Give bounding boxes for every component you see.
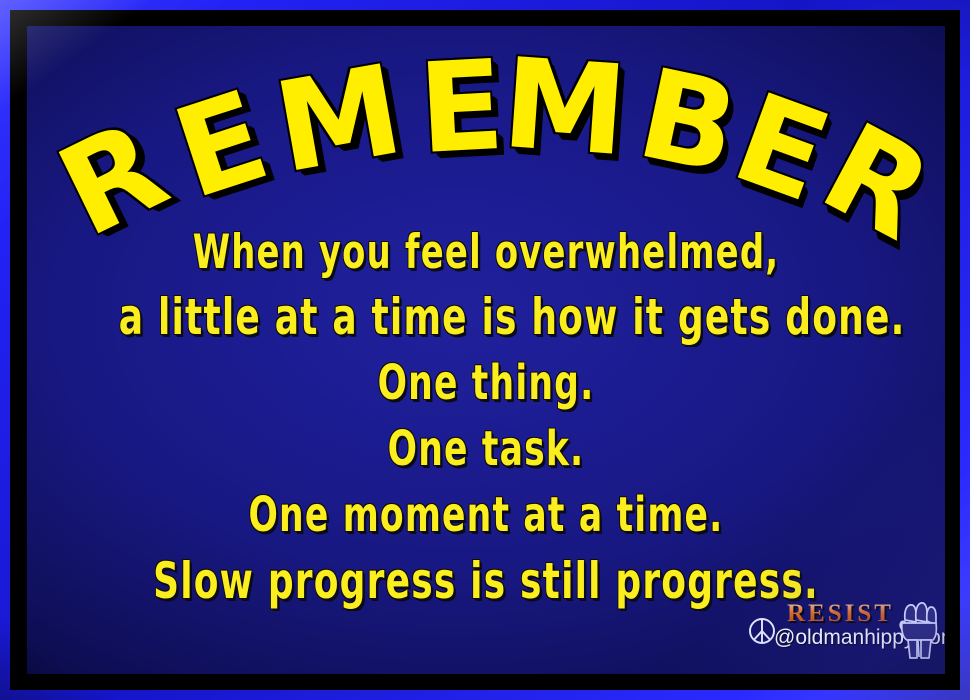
quote-line: One thing.: [119, 350, 853, 416]
page-title: R E M E M B E R: [27, 40, 945, 220]
poster-inner-panel: R E M E M B E R When you feel overwhelme…: [27, 26, 945, 674]
quote-block: When you feel overwhelmed, a little at a…: [27, 222, 945, 614]
poster-canvas: R E M E M B E R When you feel overwhelme…: [0, 0, 970, 700]
raised-fist-icon: [895, 598, 941, 660]
title-letter: M: [499, 42, 629, 174]
quote-line: One task.: [119, 416, 853, 482]
peace-symbol-icon: [747, 616, 777, 646]
quote-line: When you feel overwhelmed,: [119, 222, 853, 284]
quote-line: Slow progress is still progress.: [119, 548, 853, 614]
resist-wordmark: RESIST: [787, 600, 894, 628]
quote-line: One moment at a time.: [119, 482, 853, 548]
title-letter: E: [162, 74, 279, 217]
title-letter: E: [416, 44, 505, 172]
quote-line: a little at a time is how it gets done.: [119, 284, 853, 350]
title-arc-word: R E M E M B E R: [27, 40, 945, 220]
watermark: RESIST @oldmanhippy.com: [747, 600, 937, 664]
title-letter: M: [267, 48, 408, 191]
